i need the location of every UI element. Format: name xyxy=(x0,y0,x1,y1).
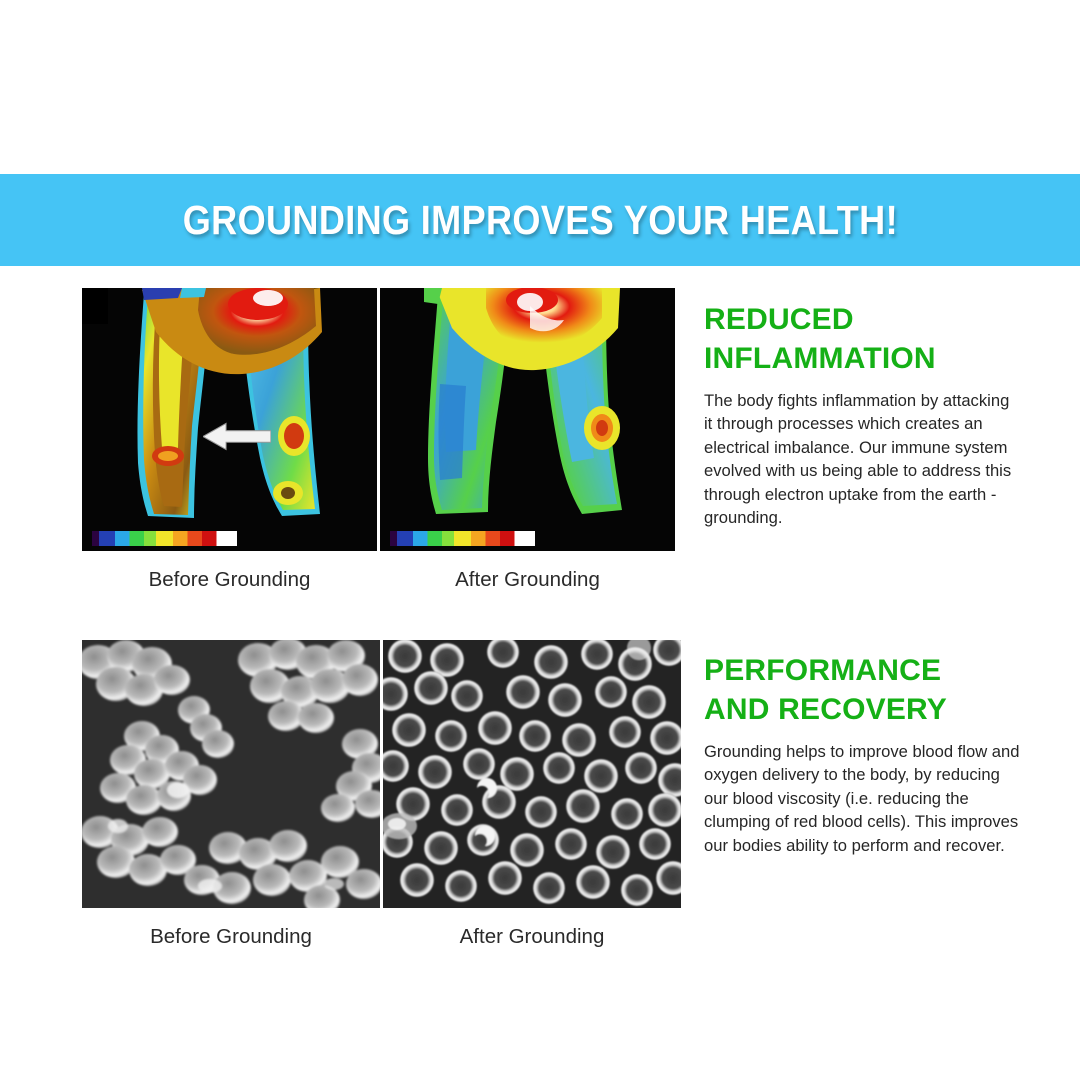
inflammation-arrow-icon xyxy=(203,422,271,451)
heading-performance-and-recovery: PERFORMANCE AND RECOVERY xyxy=(704,651,1022,729)
section-reduced-inflammation: REDUCED INFLAMMATION The body fights inf… xyxy=(704,300,1022,529)
thermal-colorbar-after xyxy=(390,531,535,546)
caption-blood-before: Before Grounding xyxy=(82,925,380,949)
blood-after-image xyxy=(383,640,681,908)
caption-thermal-before: Before Grounding xyxy=(82,568,377,592)
page-title: GROUNDING IMPROVES YOUR HEALTH! xyxy=(182,197,897,244)
infographic-page: GROUNDING IMPROVES YOUR HEALTH! xyxy=(0,0,1080,1080)
blood-before-image xyxy=(82,640,380,908)
thermal-image-pair xyxy=(82,288,675,551)
thermal-colorbar-before xyxy=(92,531,237,546)
body-reduced-inflammation: The body fights inflammation by attackin… xyxy=(704,389,1022,529)
heading-reduced-inflammation: REDUCED INFLAMMATION xyxy=(704,300,1022,378)
thermal-after-image xyxy=(380,288,675,551)
section-performance-and-recovery: PERFORMANCE AND RECOVERY Grounding helps… xyxy=(704,651,1022,857)
blood-image-pair xyxy=(82,640,681,908)
thermal-after-panel xyxy=(380,288,675,551)
body-performance-and-recovery: Grounding helps to improve blood flow an… xyxy=(704,740,1022,857)
thermal-before-panel xyxy=(82,288,377,551)
caption-thermal-after: After Grounding xyxy=(380,568,675,592)
header-banner: GROUNDING IMPROVES YOUR HEALTH! xyxy=(0,174,1080,266)
blood-after-panel xyxy=(383,640,681,908)
thermal-before-image xyxy=(82,288,377,551)
blood-before-panel xyxy=(82,640,380,908)
caption-blood-after: After Grounding xyxy=(383,925,681,949)
